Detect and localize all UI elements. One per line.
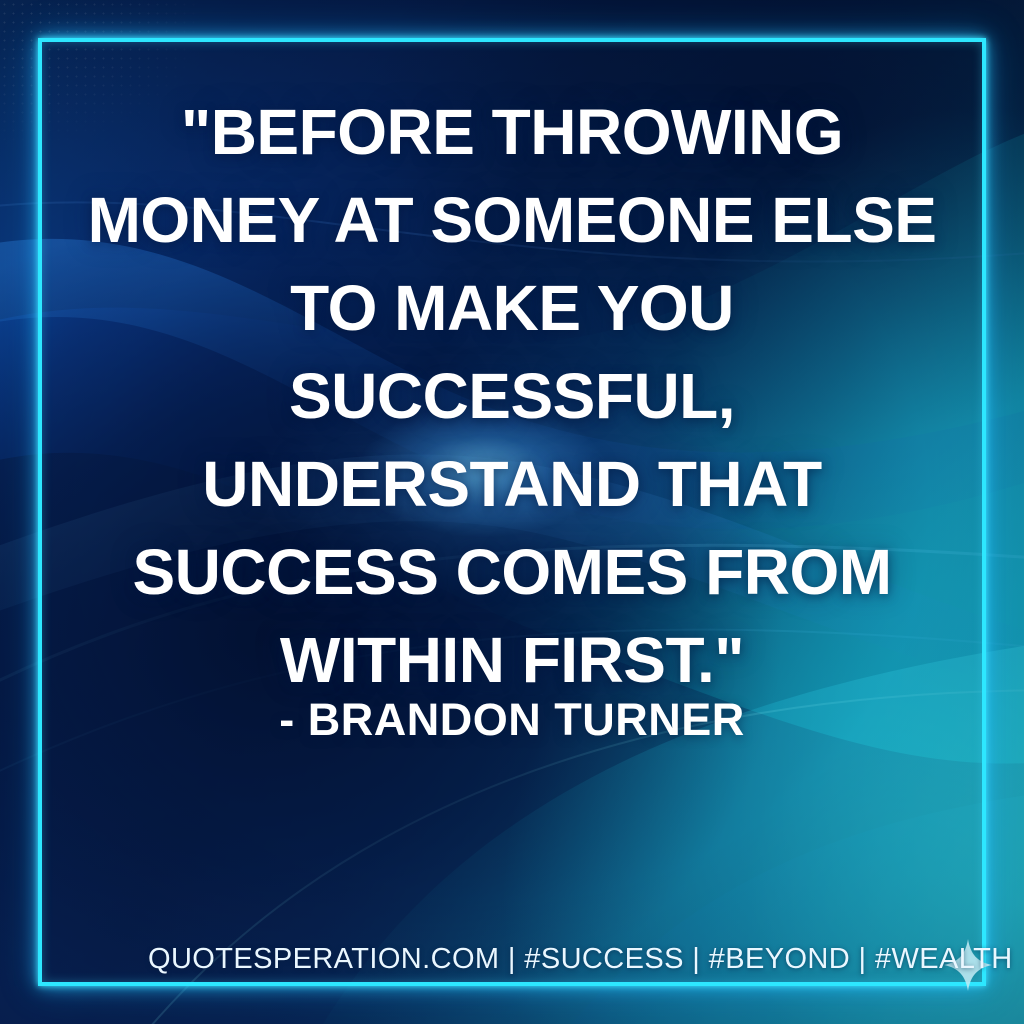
quote-poster: "BEFORE THROWING MONEY AT SOMEONE ELSE T… (0, 0, 1024, 1024)
poster-content: "BEFORE THROWING MONEY AT SOMEONE ELSE T… (0, 0, 1024, 1024)
quote-block: "BEFORE THROWING MONEY AT SOMEONE ELSE T… (62, 88, 962, 704)
quote-attribution: - BRANDON TURNER (62, 694, 962, 746)
footer-credit-text: QUOTESPERATION.COM | #SUCCESS | #BEYOND … (148, 943, 1013, 976)
footer-bar: QUOTESPERATION.COM | #SUCCESS | #BEYOND … (148, 940, 1013, 978)
quote-text: "BEFORE THROWING MONEY AT SOMEONE ELSE T… (62, 88, 962, 704)
